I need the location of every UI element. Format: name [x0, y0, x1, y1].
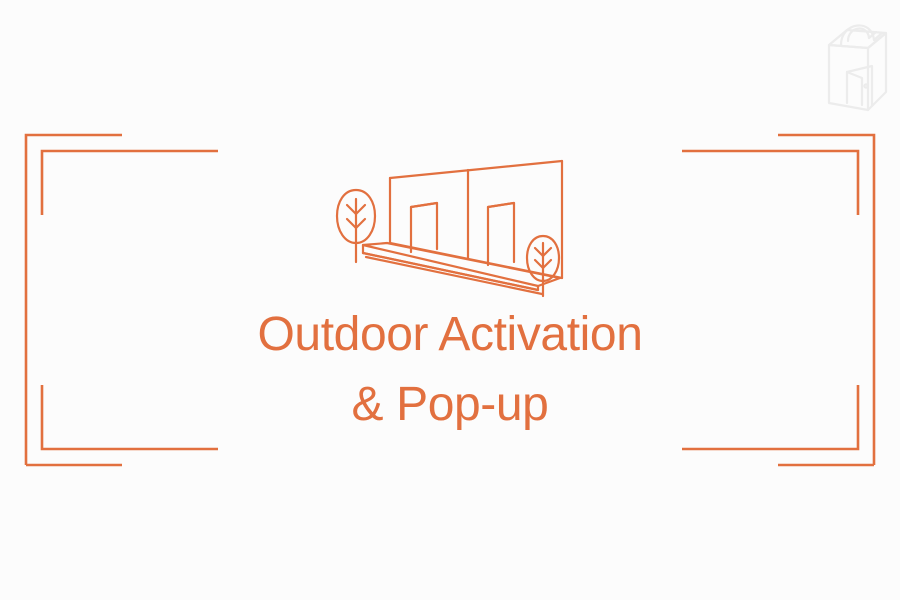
- page-title-line-2: & Pop-up: [0, 370, 900, 440]
- tree-icon: [527, 236, 559, 296]
- page-title: Outdoor Activation & Pop-up: [0, 300, 900, 439]
- page-title-line-1: Outdoor Activation: [0, 300, 900, 370]
- slide-canvas: Outdoor Activation & Pop-up: [0, 0, 900, 600]
- tree-icon: [337, 190, 375, 262]
